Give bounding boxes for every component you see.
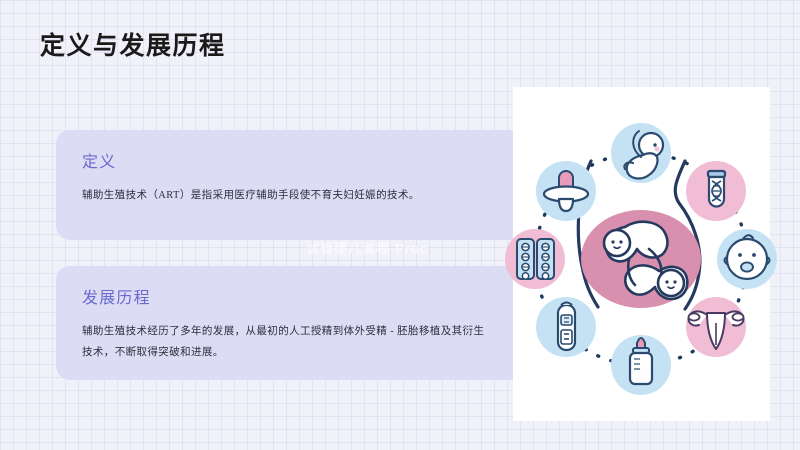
illustration-panel (513, 87, 770, 421)
definition-card: 定义 辅助生殖技术（ART）是指采用医疗辅助手段使不育夫妇妊娠的技术。 (56, 130, 513, 240)
watermark-text: 试管婴儿流程-Proc (306, 240, 428, 258)
definition-card-heading: 定义 (82, 152, 487, 174)
definition-card-body: 辅助生殖技术（ART）是指采用医疗辅助手段使不育夫妇妊娠的技术。 (82, 185, 487, 206)
history-card-heading: 发展历程 (82, 288, 487, 310)
history-card: 发展历程 辅助生殖技术经历了多年的发展，从最初的人工授精到体外受精 - 胚胎移植… (56, 266, 513, 380)
page-title: 定义与发展历程 (40, 30, 226, 64)
slide-canvas: 定义与发展历程 定义 辅助生殖技术（ART）是指采用医疗辅助手段使不育夫妇妊娠的… (0, 0, 800, 450)
history-card-body: 辅助生殖技术经历了多年的发展，从最初的人工授精到体外受精 - 胚胎移植及其衍生技… (82, 321, 487, 363)
